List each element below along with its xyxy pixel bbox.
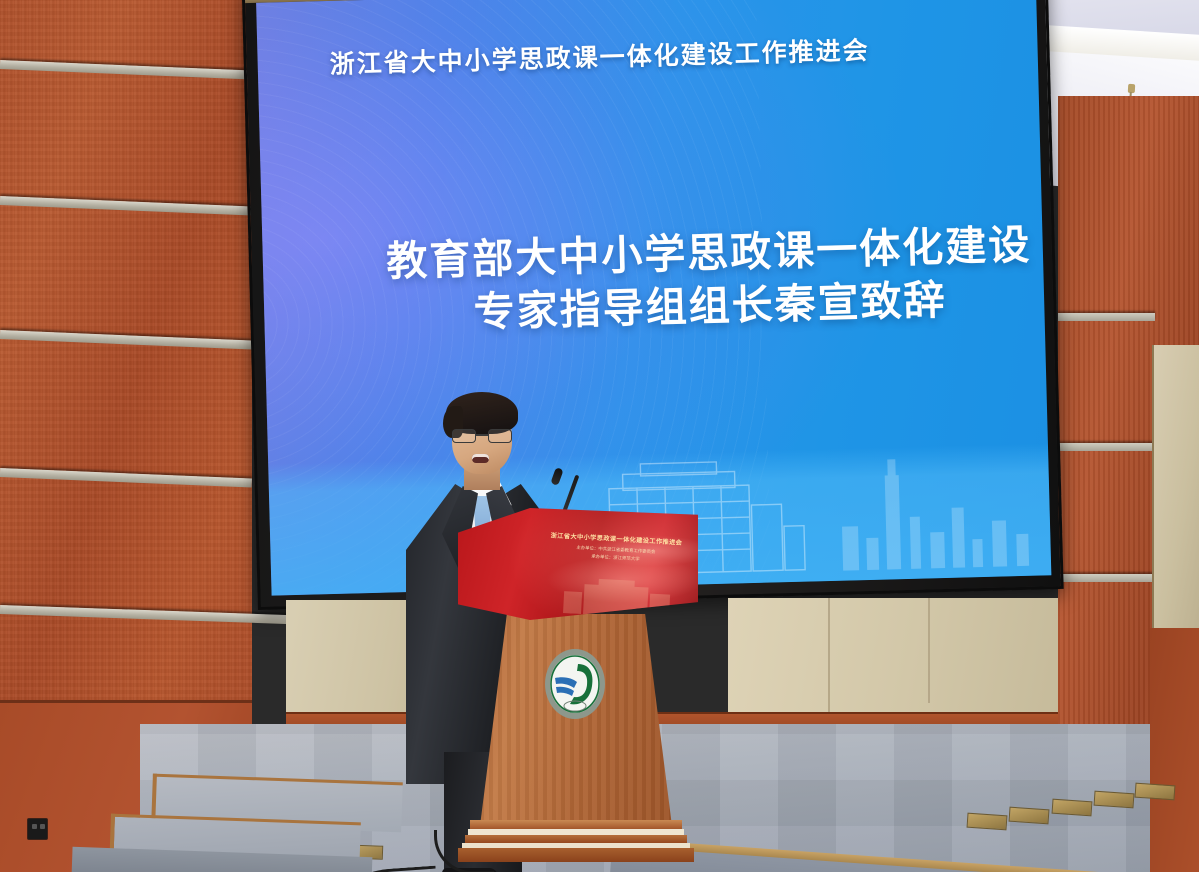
glasses-bridge — [476, 434, 488, 436]
floor-outlet-box — [1009, 807, 1050, 825]
wall-power-outlet-icon — [27, 818, 48, 840]
panel-seam — [928, 598, 930, 703]
wall-metal-strip — [1058, 313, 1155, 321]
floor-outlet-box — [1135, 783, 1176, 801]
floor-outlet-box — [967, 813, 1008, 831]
banner-building-graphic — [553, 573, 685, 620]
panel-seam — [828, 598, 830, 716]
university-crest-emblem-icon — [544, 648, 606, 720]
glasses-lens-right — [488, 429, 512, 443]
wall-metal-strip — [1058, 443, 1155, 451]
podium-base-tier-1 — [470, 820, 682, 829]
wall-metal-strip — [1058, 574, 1155, 582]
conference-hall-photo: 浙江省大中小学思政课一体化建设工作推进会 教育部大中小学思政课一体化建设 专家指… — [0, 0, 1199, 872]
screen-main-title: 教育部大中小学思政课一体化建设 专家指导组组长秦宣致辞 — [370, 218, 1049, 342]
podium: 浙江省大中小学思政课一体化建设工作推进会 主办单位：中共浙江省委教育工作委员会 … — [452, 500, 704, 872]
fire-sprinkler-icon — [1128, 84, 1135, 93]
floor-outlet-box — [1094, 791, 1135, 809]
acoustic-panel-right — [1152, 345, 1199, 630]
screen-header-text: 浙江省大中小学思政课一体化建设工作推进会 — [329, 28, 990, 81]
podium-body — [480, 614, 672, 826]
mouth — [472, 454, 489, 463]
podium-banner-text: 浙江省大中小学思政课一体化建设工作推进会 主办单位：中共浙江省委教育工作委员会 … — [535, 530, 696, 566]
acoustic-panel-center — [728, 598, 1058, 716]
glasses-icon — [450, 429, 516, 443]
right-wall-lower-wood — [1150, 628, 1199, 872]
podium-base-tier-2 — [465, 835, 687, 843]
podium-banner: 浙江省大中小学思政课一体化建设工作推进会 主办单位：中共浙江省委教育工作委员会 … — [458, 508, 698, 620]
glasses-lens-left — [452, 429, 476, 443]
floor-outlet-box — [1052, 799, 1093, 817]
